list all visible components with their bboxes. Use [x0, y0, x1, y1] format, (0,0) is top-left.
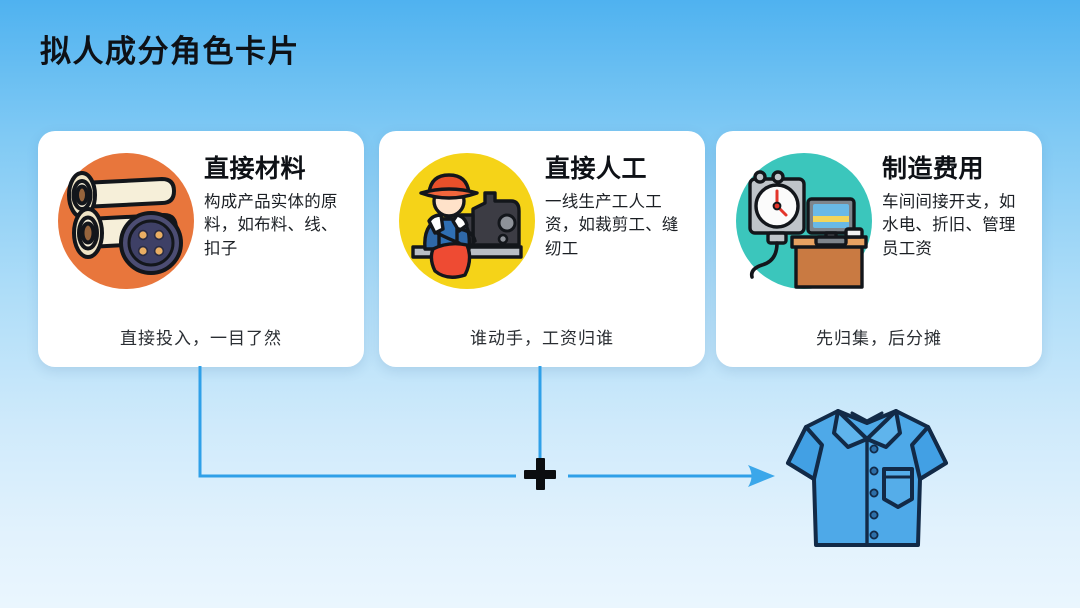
- card-title: 直接人工: [545, 155, 693, 183]
- cost-component-card-direct-materials[interactable]: 直接材料 构成产品实体的原料，如布料、线、扣子 直接投入，一目了然: [38, 131, 364, 367]
- card-footer-tagline: 先归集，后分摊: [716, 324, 1042, 349]
- card-text-block: 直接人工 一线生产工人工资，如裁剪工、缝纫工: [545, 155, 693, 261]
- card-title: 制造费用: [882, 155, 1030, 183]
- time-clock-and-desk-svg: [736, 153, 872, 289]
- sewing-worker-svg: [399, 153, 535, 289]
- card-description: 构成产品实体的原料，如布料、线、扣子: [204, 191, 352, 261]
- shirt-button: [870, 467, 877, 474]
- blue-shirt-icon: [778, 387, 956, 559]
- fabric-rolls-and-button-icon: [58, 153, 194, 289]
- cost-component-card-manufacturing-overhead[interactable]: 制造费用 车间间接开支，如水电、折旧、管理员工资 先归集，后分摊: [716, 131, 1042, 367]
- card-footer-tagline: 谁动手，工资归谁: [379, 324, 705, 349]
- sewing-worker-icon: [399, 153, 535, 289]
- card-description: 车间间接开支，如水电、折旧、管理员工资: [882, 191, 1030, 261]
- slide-canvas: 拟人成分角色卡片: [0, 0, 1080, 608]
- card-top-section: 直接人工 一线生产工人工资，如裁剪工、缝纫工: [379, 131, 705, 309]
- card-text-block: 直接材料 构成产品实体的原料，如布料、线、扣子: [204, 155, 352, 261]
- card-top-section: 直接材料 构成产品实体的原料，如布料、线、扣子: [38, 131, 364, 309]
- page-title: 拟人成分角色卡片: [40, 35, 300, 69]
- fabric-rolls-and-button-svg: [58, 153, 194, 289]
- card-text-block: 制造费用 车间间接开支，如水电、折旧、管理员工资: [882, 155, 1030, 261]
- connector-line-from-materials: [200, 366, 516, 476]
- card-footer-tagline: 直接投入，一目了然: [38, 324, 364, 349]
- card-title: 直接材料: [204, 155, 352, 183]
- card-top-section: 制造费用 车间间接开支，如水电、折旧、管理员工资: [716, 131, 1042, 309]
- shirt-button: [870, 445, 877, 452]
- plus-operator-icon: [524, 458, 556, 490]
- card-description: 一线生产工人工资，如裁剪工、缝纫工: [545, 191, 693, 261]
- time-clock-and-desk-icon: [736, 153, 872, 289]
- cost-component-card-direct-labor[interactable]: 直接人工 一线生产工人工资，如裁剪工、缝纫工 谁动手，工资归谁: [379, 131, 705, 367]
- shirt-button: [870, 489, 877, 496]
- arrow-head-icon: [748, 465, 775, 487]
- shirt-button: [870, 531, 877, 538]
- shirt-button: [870, 511, 877, 518]
